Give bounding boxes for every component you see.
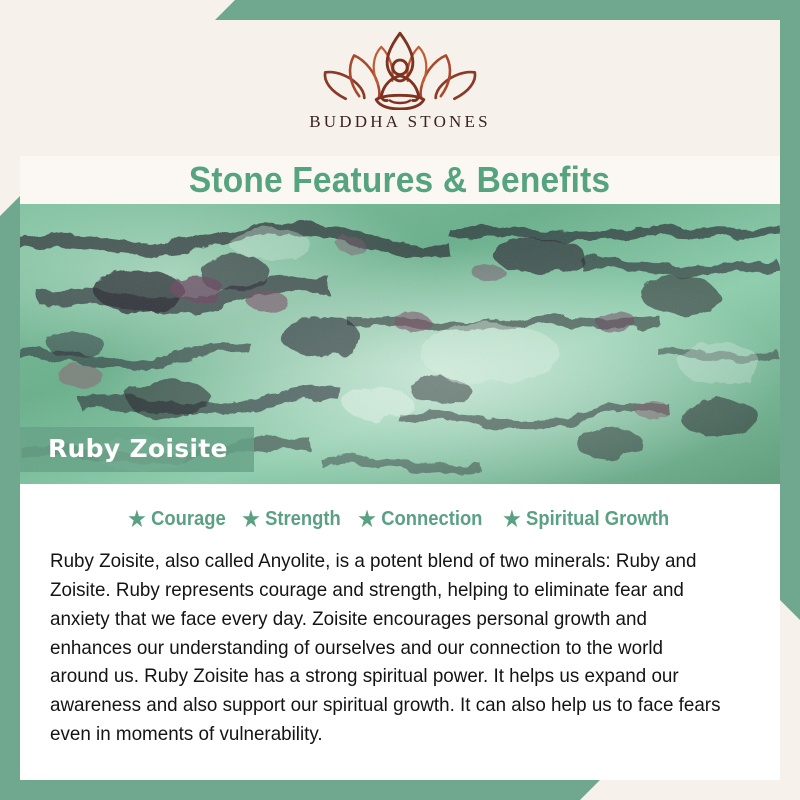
feature-tag-label: Spiritual Growth bbox=[526, 508, 669, 531]
feature-tag-label: Courage bbox=[151, 508, 226, 531]
section-title-banner: Stone Features & Benefits bbox=[20, 156, 780, 204]
frame-band-left bbox=[0, 196, 20, 800]
feature-tag-courage: ★ Courage bbox=[128, 508, 225, 531]
description-paragraph: Ruby Zoisite, also called Anyolite, is a… bbox=[50, 547, 726, 749]
brand-name: BUDDHA STONES bbox=[309, 112, 491, 132]
brand-header: BUDDHA STONES bbox=[20, 20, 780, 156]
stone-name-label: Ruby Zoisite bbox=[48, 434, 228, 463]
lotus-meditation-icon bbox=[315, 28, 485, 110]
feature-tag-label: Strength bbox=[265, 508, 341, 531]
feature-tag-spiritual-growth: ★ Spiritual Growth bbox=[503, 508, 669, 531]
feature-tag-connection: ★ Connection bbox=[358, 508, 482, 531]
stone-photo: Ruby Zoisite bbox=[20, 204, 780, 484]
frame-band-right bbox=[780, 0, 800, 620]
star-icon: ★ bbox=[128, 509, 145, 530]
description-section: ★ Courage ★ Strength ★ Connection ★ Spir… bbox=[20, 484, 780, 780]
feature-tag-label: Connection bbox=[381, 508, 482, 531]
star-icon: ★ bbox=[242, 509, 259, 530]
feature-tag-list: ★ Courage ★ Strength ★ Connection ★ Spir… bbox=[50, 508, 750, 531]
frame-band-top bbox=[215, 0, 800, 20]
feature-tag-strength: ★ Strength bbox=[242, 508, 340, 531]
page-title: Stone Features & Benefits bbox=[189, 159, 610, 201]
infographic-card: BUDDHA STONES Stone Features & Benefits bbox=[20, 20, 780, 780]
star-icon: ★ bbox=[358, 509, 375, 530]
frame-band-bottom bbox=[0, 780, 600, 800]
stone-name-badge: Ruby Zoisite bbox=[20, 427, 254, 472]
star-icon: ★ bbox=[503, 509, 520, 530]
